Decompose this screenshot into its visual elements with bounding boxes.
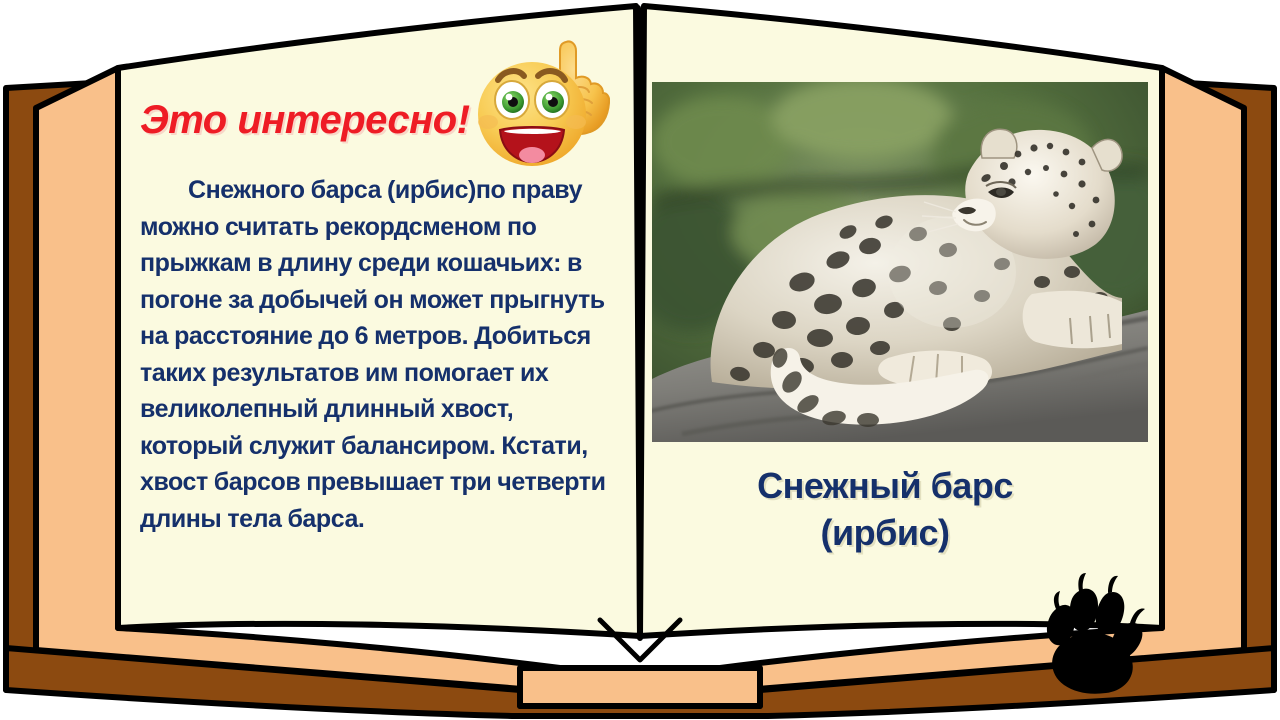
- book-infographic-stage: Это интересно!: [0, 0, 1280, 720]
- right-page-content: Снежный барс (ирбис): [650, 60, 1170, 660]
- paw-print-icon: [1032, 565, 1162, 700]
- body-paragraph: Снежного барса (ирбис)по праву можно счи…: [140, 172, 610, 537]
- book-spine-crease: [638, 8, 640, 638]
- caption-line-2: (ирбис): [650, 509, 1120, 556]
- caption-line-1: Снежный барс: [650, 462, 1120, 509]
- snow-leopard-photo: [652, 82, 1148, 442]
- book-bottom-tab: [520, 668, 760, 706]
- paw-claw-2: [1078, 573, 1086, 591]
- paw-claw-1: [1054, 591, 1060, 609]
- smiley-pointing-up-icon: [470, 22, 610, 172]
- paw-claw-3: [1108, 576, 1118, 593]
- left-page-content: Это интересно!: [118, 40, 618, 640]
- photo-caption: Снежный барс (ирбис): [650, 462, 1120, 556]
- paw-toe-2: [1070, 589, 1099, 631]
- page-title: Это интересно!: [140, 98, 470, 143]
- paw-claw-4: [1130, 609, 1145, 624]
